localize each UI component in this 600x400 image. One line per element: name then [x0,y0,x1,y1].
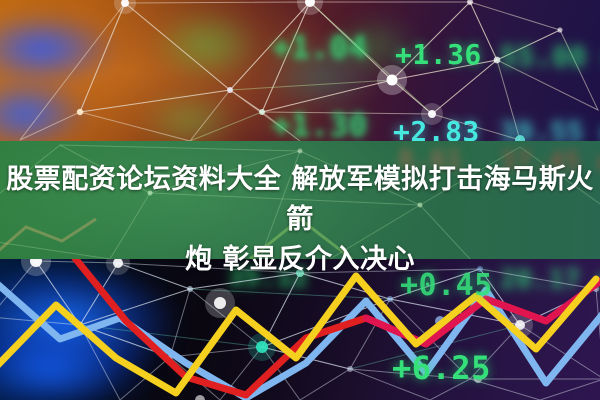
title-line-1: 股票配资论坛资料大全 解放军模拟打击海马斯火箭 [0,160,600,240]
chart-line-blue [0,281,600,398]
stock-news-banner: +1.04 +1.36 55.00 u +1.30 +2.83 39.55 u [0,0,600,400]
bottom-chart-band: 35.12 20.17 u [0,259,600,400]
ticker-value: +6.25 [392,349,491,387]
zigzag-line-chart [0,259,600,400]
chart-line-magenta [366,277,600,344]
blue-glow-blob [0,325,150,400]
chart-line-yellow [0,276,596,393]
top-gradient-band: +1.04 +1.36 55.00 u +1.30 +2.83 39.55 u [0,0,600,142]
blue-glow-blob [0,263,174,383]
network-constellation-bottom [0,259,600,400]
title-line-2: 炮 彰显反介入决心 [0,240,600,280]
page-title: 股票配资论坛资料大全 解放军模拟打击海马斯火箭 炮 彰显反介入决心 [0,160,600,280]
top-band-vignette [0,0,600,142]
